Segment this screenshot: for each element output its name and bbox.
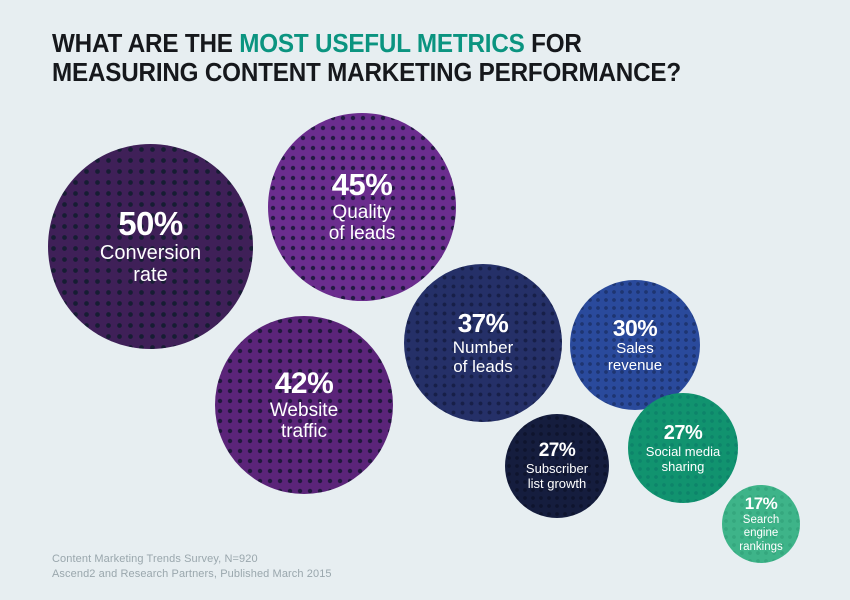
footer-line-1: Content Marketing Trends Survey, N=920 — [52, 552, 332, 567]
bubble-label-line-1: Number — [453, 339, 513, 357]
bubble-label-line-1: Subscriber — [526, 462, 588, 476]
bubble-label-line-2: traffic — [270, 422, 338, 442]
bubble-percent-value: 45% — [329, 169, 396, 202]
bubble-label-line-2: engine — [739, 527, 782, 539]
bubble-text: 42%Websitetraffic — [266, 368, 342, 442]
bubble-text: 45%Qualityof leads — [325, 169, 400, 244]
bubble-label-line-2: sharing — [646, 460, 720, 474]
bubble-text: 17%Searchenginerankings — [735, 495, 786, 553]
bubble-text: 27%Subscriberlist growth — [522, 441, 592, 491]
bubble-27-percent[interactable]: 27%Social mediasharing — [628, 393, 738, 503]
bubble-27-percent[interactable]: 27%Subscriberlist growth — [505, 414, 609, 518]
bubble-text: 27%Social mediasharing — [642, 423, 724, 474]
bubble-percent-value: 27% — [526, 441, 588, 461]
bubble-chart: 50%Conversionrate45%Qualityof leads42%We… — [0, 0, 850, 600]
bubble-percent-value: 17% — [739, 495, 782, 513]
bubble-50-percent[interactable]: 50%Conversionrate — [48, 144, 253, 349]
bubble-percent-value: 37% — [453, 310, 513, 338]
footer-line-2: Ascend2 and Research Partners, Published… — [52, 567, 332, 582]
bubble-label-line-3: rankings — [739, 541, 782, 553]
bubble-37-percent[interactable]: 37%Numberof leads — [404, 264, 562, 422]
bubble-text: 30%Salesrevenue — [604, 316, 666, 374]
bubble-label-line-1: Website — [270, 401, 338, 421]
bubble-label-line-1: Sales — [608, 341, 662, 357]
bubble-label-line-2: of leads — [453, 358, 513, 376]
bubble-label-line-1: Quality — [329, 203, 396, 223]
bubble-percent-value: 50% — [100, 207, 201, 242]
bubble-42-percent[interactable]: 42%Websitetraffic — [215, 316, 393, 494]
bubble-text: 37%Numberof leads — [449, 310, 517, 376]
bubble-45-percent[interactable]: 45%Qualityof leads — [268, 113, 456, 301]
bubble-percent-value: 27% — [646, 423, 720, 444]
bubble-label-line-2: rate — [100, 265, 201, 286]
bubble-label-line-2: revenue — [608, 358, 662, 374]
bubble-label-line-2: of leads — [329, 224, 396, 244]
bubble-17-percent[interactable]: 17%Searchenginerankings — [722, 485, 800, 563]
footer-attribution: Content Marketing Trends Survey, N=920 A… — [52, 552, 332, 582]
bubble-label-line-1: Social media — [646, 445, 720, 459]
bubble-text: 50%Conversionrate — [96, 207, 205, 286]
bubble-label-line-1: Conversion — [100, 243, 201, 264]
bubble-label-line-2: list growth — [526, 477, 588, 491]
bubble-percent-value: 30% — [608, 316, 662, 340]
bubble-30-percent[interactable]: 30%Salesrevenue — [570, 280, 700, 410]
bubble-label-line-1: Search — [739, 514, 782, 526]
bubble-percent-value: 42% — [270, 368, 338, 400]
